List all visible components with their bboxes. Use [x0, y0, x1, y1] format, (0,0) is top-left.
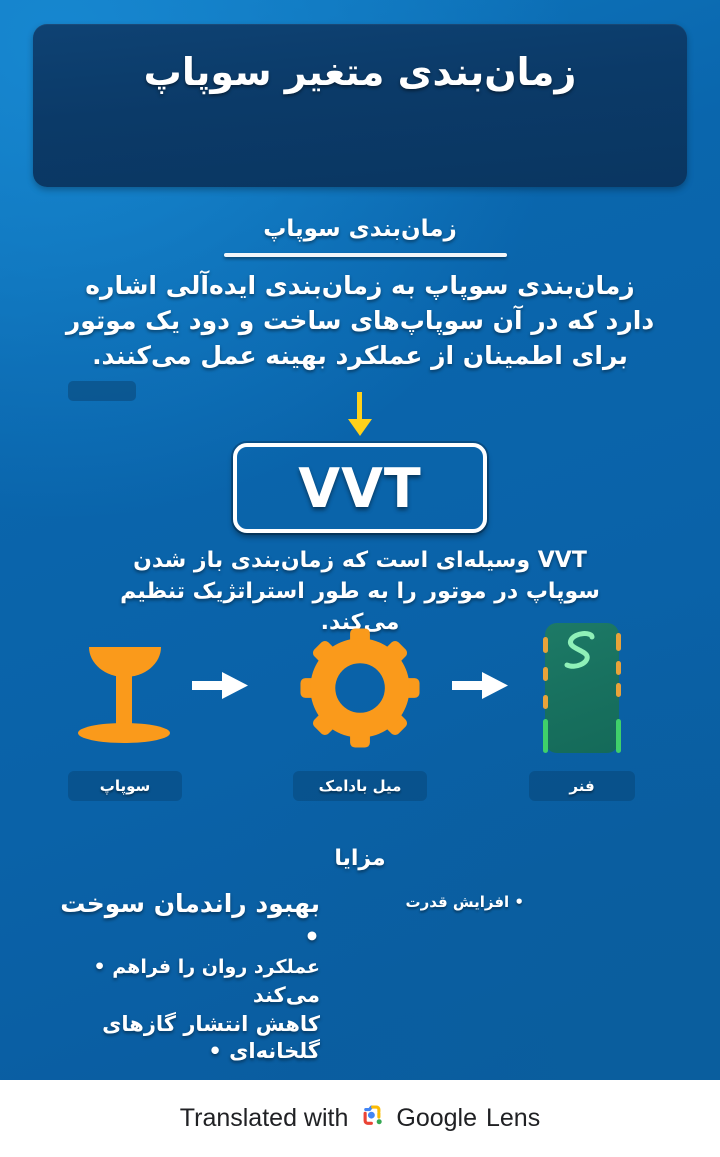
camshaft-gear-icon [298, 626, 422, 750]
valve-art [50, 628, 200, 748]
benefit-item: عملکرد روان را فراهم • [60, 955, 320, 980]
footer-prefix: Translated with [180, 1104, 349, 1133]
vvt-box: VVT [233, 443, 487, 533]
component-flow: فنر [50, 620, 670, 805]
camshaft-art [285, 628, 435, 748]
benefits-heading: مزایا [0, 846, 720, 871]
flow-item-camshaft: میل بادامک [285, 620, 435, 805]
valve-icon [71, 629, 179, 747]
infographic-page: زمان‌بندی متغیر سوپاپ زمان‌بندی سوپاپ زم… [0, 0, 720, 1157]
benefits-right-column: • افزایش قدرت [324, 893, 524, 911]
faint-highlight-block [68, 381, 136, 401]
title-card: زمان‌بندی متغیر سوپاپ [33, 24, 687, 187]
benefit-item-continuation: می‌کند [60, 982, 320, 1009]
vvt-label: VVT [298, 457, 421, 520]
footer-product: Lens [486, 1104, 540, 1133]
flow-label-camshaft: میل بادامک [285, 777, 435, 795]
section-heading-rule [224, 253, 507, 257]
benefit-item: کاهش انتشار گازهای گلخانه‌ای • [60, 1011, 320, 1066]
flow-label-valve: سوپاپ [50, 777, 200, 795]
flow-item-spring: فنر [507, 620, 657, 805]
intro-paragraph: زمان‌بندی سوپاپ به زمان‌بندی ایده‌آلی اش… [60, 268, 660, 373]
arrow-right-icon [450, 668, 514, 704]
benefit-item: بهبود راندمان سوخت • [60, 888, 320, 953]
google-lens-icon[interactable] [357, 1102, 387, 1136]
page-title: زمان‌بندی متغیر سوپاپ [33, 50, 687, 94]
spring-art [507, 628, 657, 748]
benefits-left-column: بهبود راندمان سوخت • عملکرد روان را فراه… [60, 888, 320, 1068]
down-arrow-icon [346, 392, 374, 437]
section-heading: زمان‌بندی سوپاپ [253, 216, 467, 242]
section-heading-wrap: زمان‌بندی سوپاپ [0, 216, 720, 242]
flow-label-spring: فنر [507, 777, 657, 795]
infographic-canvas: زمان‌بندی متغیر سوپاپ زمان‌بندی سوپاپ زم… [0, 0, 720, 1080]
flow-item-valve: سوپاپ [50, 620, 200, 805]
benefit-item: • افزایش قدرت [324, 893, 524, 911]
footer-brand: Google [396, 1104, 477, 1133]
spring-icon [545, 623, 619, 753]
translated-with-footer: Translated with Google Lens [0, 1080, 720, 1157]
